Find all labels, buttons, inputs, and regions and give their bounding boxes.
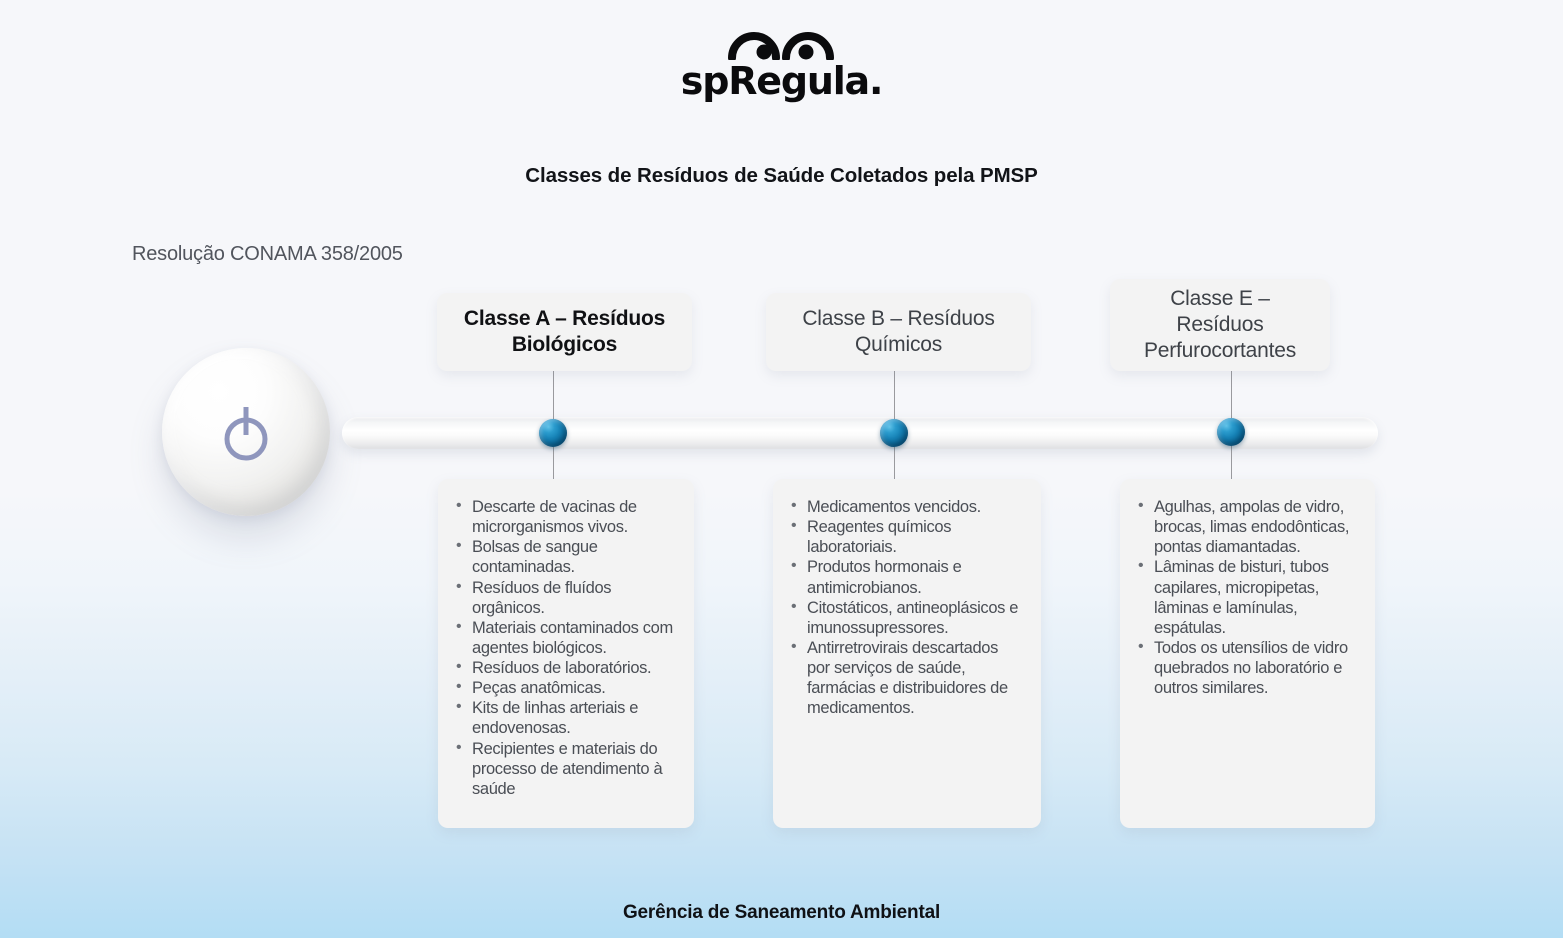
list-item: Peças anatômicas. [454, 678, 678, 698]
class-item-list-classe-a: Descarte de vacinas de microrganismos vi… [454, 497, 678, 799]
list-item: Materiais contaminados com agentes bioló… [454, 618, 678, 658]
class-header-title-line3-classe-e: Perfurocortantes [1144, 339, 1296, 362]
class-header-title-line1-classe-b: Classe B – Resíduos [802, 307, 994, 330]
class-header-card-classe-b[interactable]: Classe B – Resíduos Químicos [766, 293, 1031, 371]
class-body-card-classe-a[interactable]: Descarte de vacinas de microrganismos vi… [438, 479, 694, 828]
class-body-card-classe-b[interactable]: Medicamentos vencidos. Reagentes químico… [773, 479, 1041, 828]
two-arches-with-dots-icon [726, 26, 838, 60]
class-header-title-line2-classe-a: Biológicos [512, 333, 617, 356]
class-header-card-classe-a[interactable]: Classe A – Resíduos Biológicos [437, 293, 692, 371]
class-item-list-classe-b: Medicamentos vencidos. Reagentes químico… [789, 497, 1025, 718]
list-item: Descarte de vacinas de microrganismos vi… [454, 497, 678, 537]
power-symbol-icon [217, 401, 275, 463]
class-header-title-classe-b: Classe B – Resíduos Químicos [788, 306, 1008, 359]
page-title: Classes de Resíduos de Saúde Coletados p… [0, 164, 1563, 188]
list-item: Resíduos de laboratórios. [454, 658, 678, 678]
class-header-title-classe-a: Classe A – Resíduos Biológicos [450, 306, 679, 359]
class-body-card-classe-e[interactable]: Agulhas, ampolas de vidro, brocas, limas… [1120, 479, 1375, 828]
class-header-title-line2-classe-b: Químicos [855, 333, 942, 356]
list-item: Resíduos de fluídos orgânicos. [454, 578, 678, 618]
list-item: Medicamentos vencidos. [789, 497, 1025, 517]
emblem-sphere [162, 348, 330, 516]
class-header-title-classe-e: Classe E – Resíduos Perfurocortantes [1130, 286, 1310, 365]
list-item: Citostáticos, antineoplásicos e imunossu… [789, 598, 1025, 638]
class-item-list-classe-e: Agulhas, ampolas de vidro, brocas, limas… [1136, 497, 1359, 698]
timeline-dot-classe-e[interactable] [1217, 418, 1245, 446]
list-item: Kits de linhas arteriais e endovenosas. [454, 698, 678, 738]
brand-logo: spRegula. [0, 26, 1563, 100]
list-item: Reagentes químicos laboratoriais. [789, 517, 1025, 557]
list-item: Antirretrovirais descartados por serviço… [789, 638, 1025, 719]
class-header-card-classe-e[interactable]: Classe E – Resíduos Perfurocortantes [1110, 279, 1330, 371]
timeline-dot-classe-b[interactable] [880, 419, 908, 447]
list-item: Agulhas, ampolas de vidro, brocas, limas… [1136, 497, 1359, 557]
list-item: Bolsas de sangue contaminadas. [454, 537, 678, 577]
list-item: Produtos hormonais e antimicrobianos. [789, 557, 1025, 597]
list-item: Lâminas de bisturi, tubos capilares, mic… [1136, 557, 1359, 638]
class-header-title-line2-classe-e: Resíduos [1176, 313, 1263, 336]
footer-department: Gerência de Saneamento Ambiental [0, 902, 1563, 924]
regulation-subtitle: Resolução CONAMA 358/2005 [132, 243, 403, 266]
timeline-dot-classe-a[interactable] [539, 419, 567, 447]
class-header-title-line1-classe-a: Classe A – Resíduos [464, 307, 665, 330]
brand-logo-text: spRegula. [0, 62, 1563, 100]
class-header-title-line1-classe-e: Classe E – [1170, 287, 1270, 310]
list-item: Recipientes e materiais do processo de a… [454, 739, 678, 799]
list-item: Todos os utensílios de vidro quebrados n… [1136, 638, 1359, 698]
